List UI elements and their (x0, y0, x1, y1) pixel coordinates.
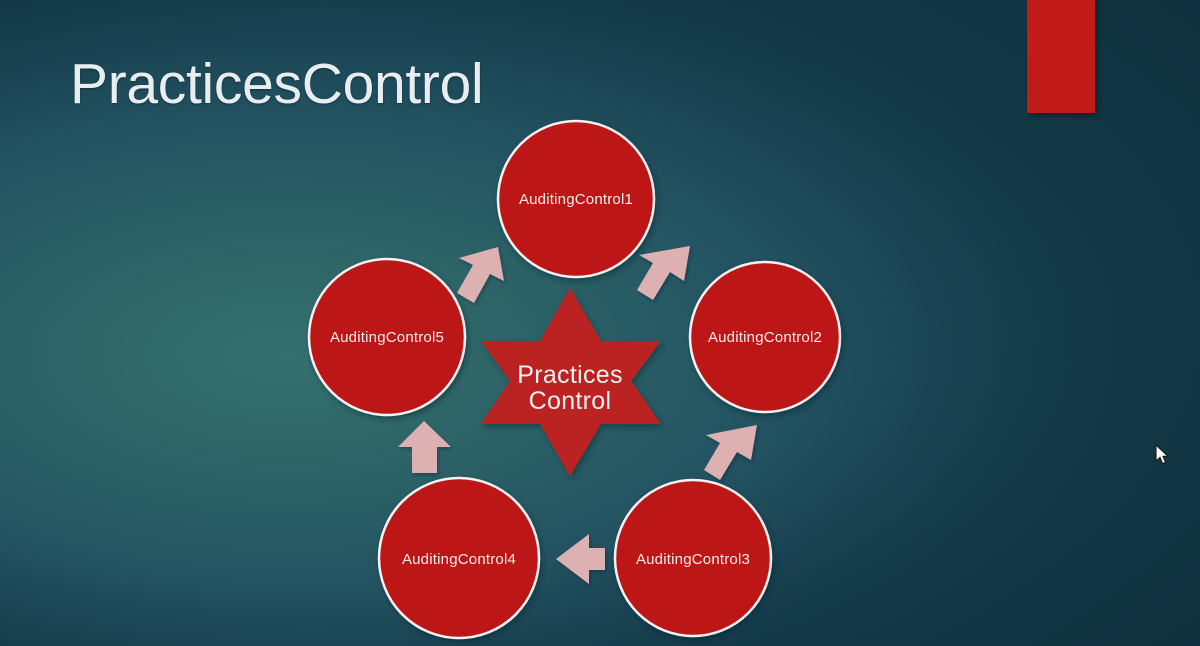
arrow-5-to-1-icon (457, 247, 504, 303)
cycle-diagram: Practices Control AuditingControl1 Audit… (0, 0, 1200, 646)
presentation-slide: PracticesControl (0, 0, 1200, 646)
node-1-label: AuditingControl1 (519, 191, 633, 208)
node-4[interactable]: AuditingControl4 (379, 478, 539, 638)
node-5-label: AuditingControl5 (330, 329, 444, 346)
node-5[interactable]: AuditingControl5 (309, 259, 465, 415)
node-4-label: AuditingControl4 (402, 551, 516, 568)
node-3-label: AuditingControl3 (636, 551, 750, 568)
node-2-label: AuditingControl2 (708, 329, 822, 346)
node-3[interactable]: AuditingControl3 (615, 480, 771, 636)
arrow-1-to-2-icon (637, 246, 690, 300)
arrow-3-to-4-icon (556, 534, 605, 584)
node-2[interactable]: AuditingControl2 (690, 262, 840, 412)
arrow-4-to-5-icon (398, 421, 451, 473)
center-star[interactable]: Practices Control (481, 288, 661, 476)
node-1[interactable]: AuditingControl1 (498, 121, 654, 277)
center-star-label-line2: Control (529, 387, 612, 415)
center-star-label-line1: Practices (517, 361, 623, 389)
arrow-2-to-3-icon (704, 425, 757, 480)
